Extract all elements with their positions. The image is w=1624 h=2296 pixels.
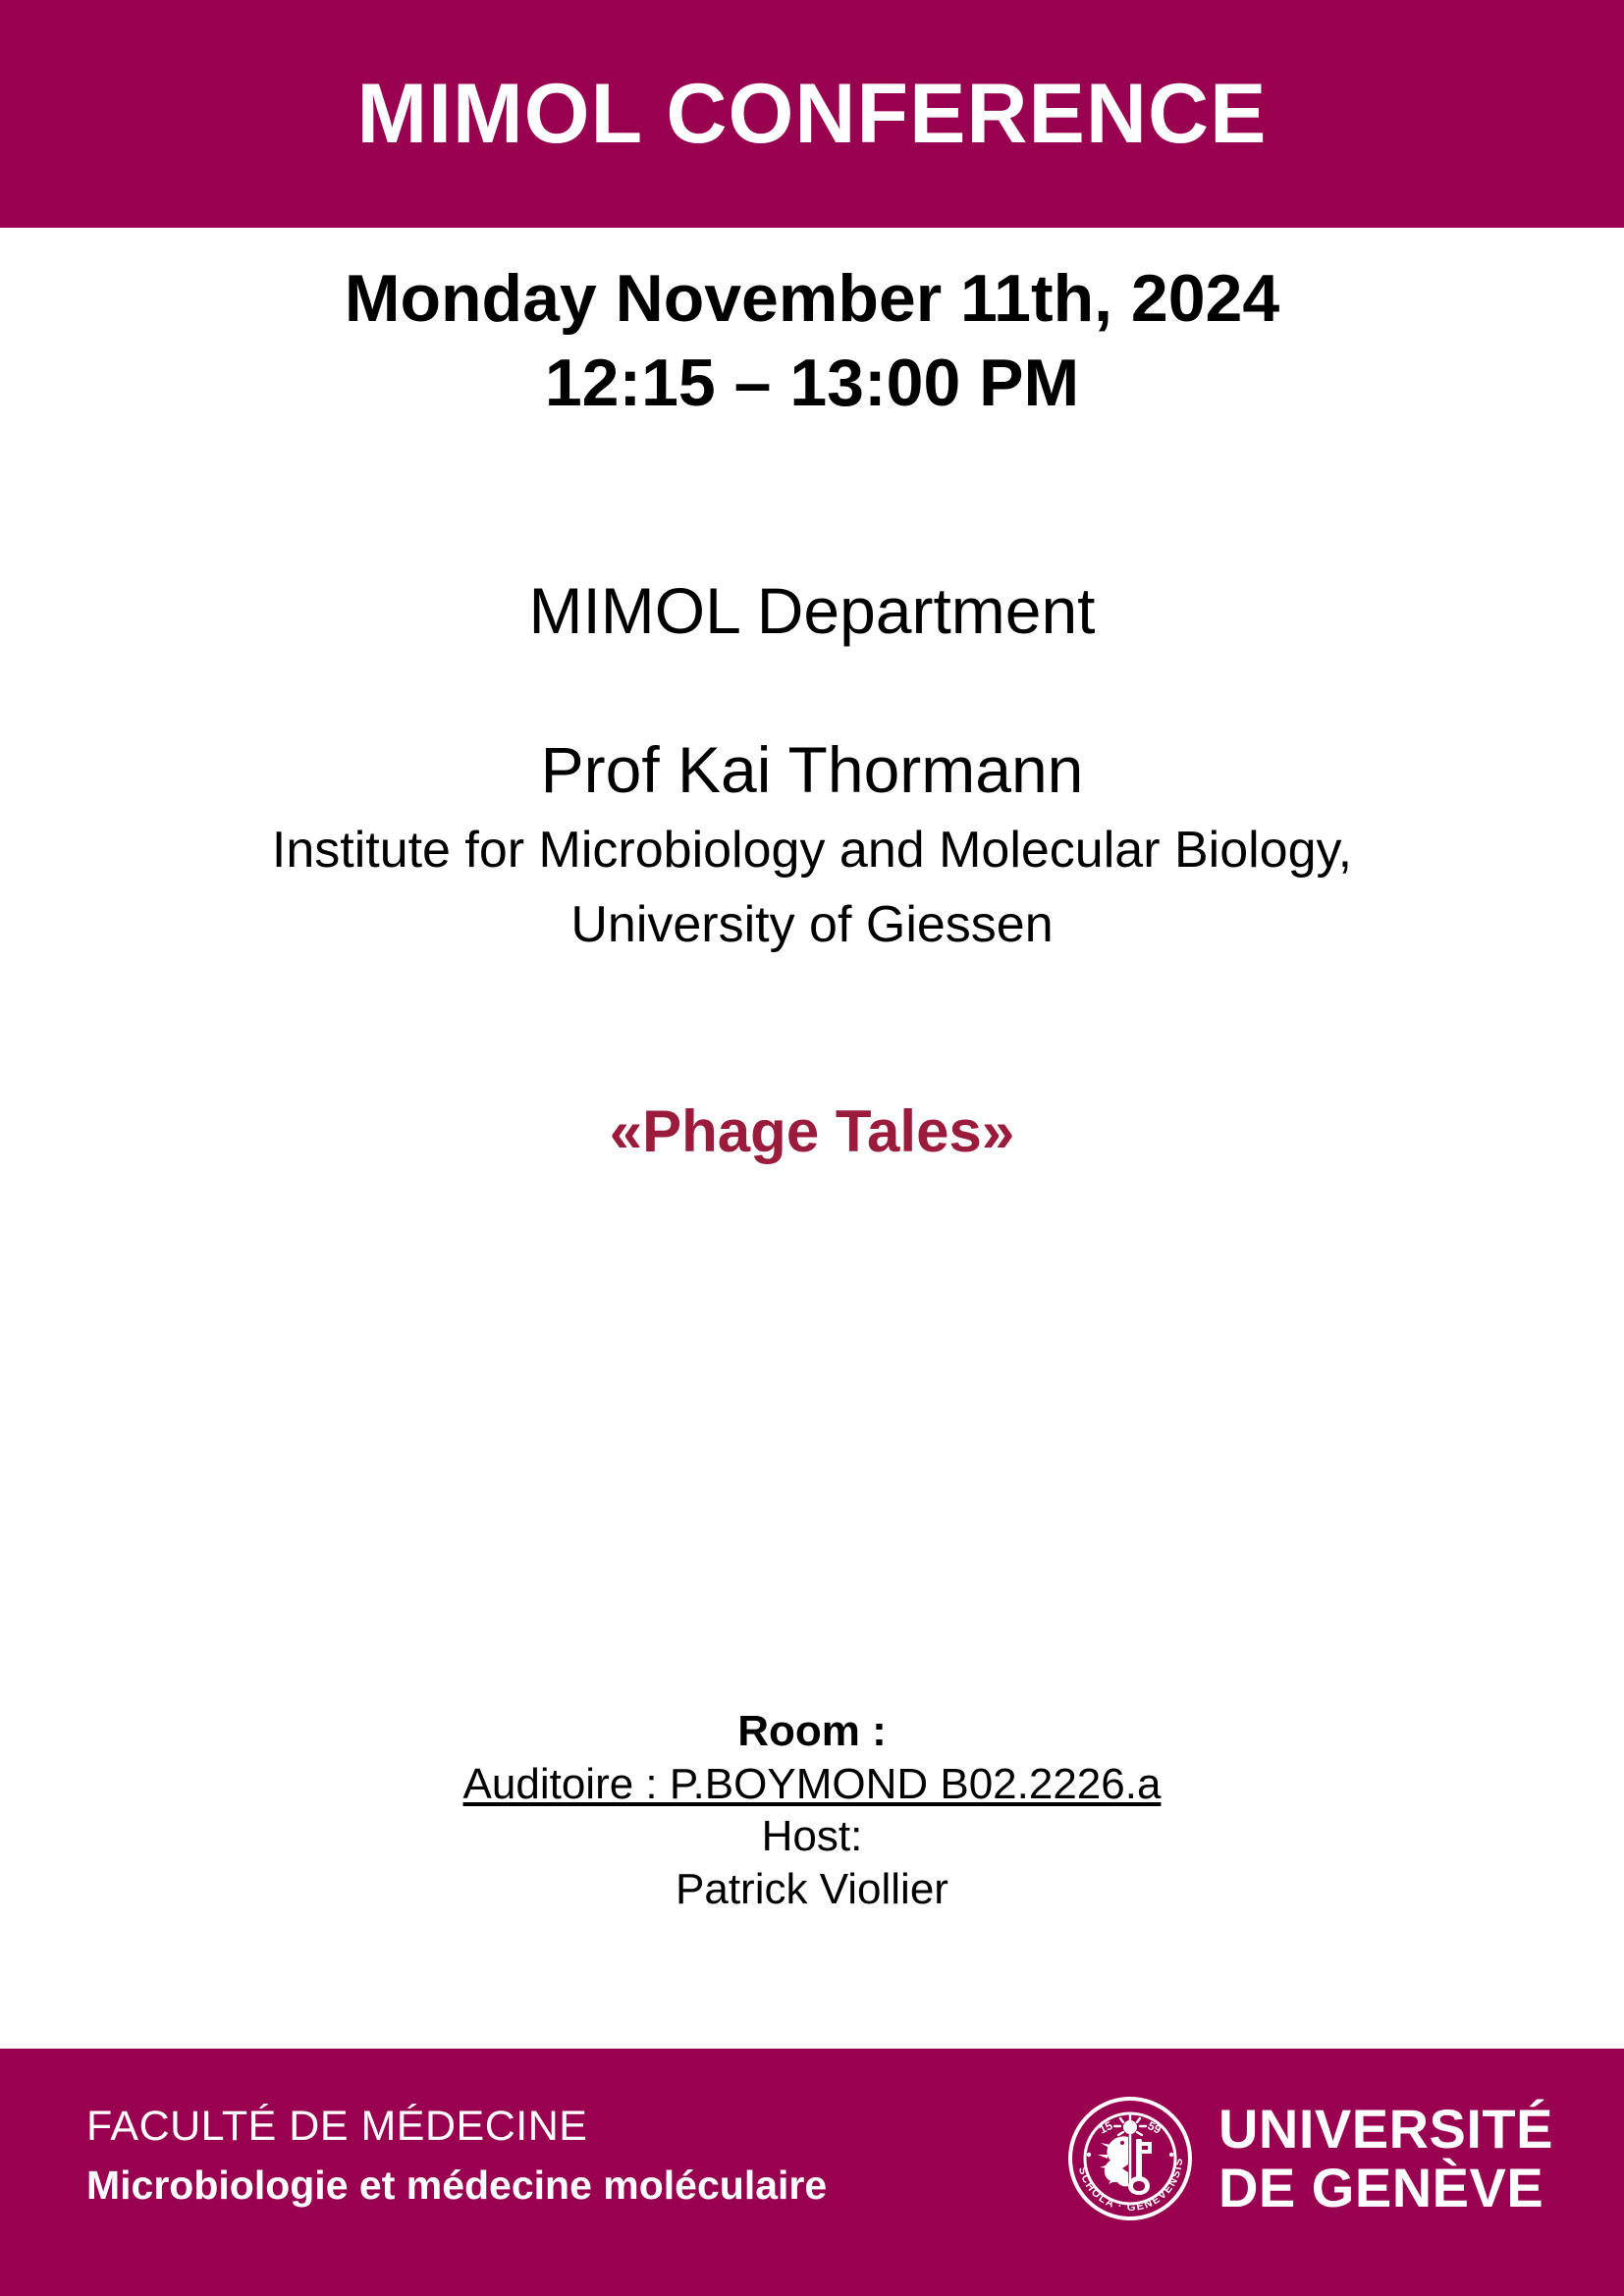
room-label: Room : <box>0 1705 1624 1758</box>
unige-logo: SCHOLA · GENEVENSIS 15 59 <box>1067 2096 1553 2221</box>
speaker-affiliation-line-1: Institute for Microbiology and Molecular… <box>0 817 1624 884</box>
talk-title: «Phage Tales» <box>0 1096 1624 1167</box>
unige-wordmark: UNIVERSITÉ DE GENÈVE <box>1218 2100 1553 2218</box>
conference-poster: MIMOL CONFERENCE Monday November 11th, 2… <box>0 0 1624 2296</box>
talk-block: «Phage Tales» <box>0 1096 1624 1167</box>
host-label: Host: <box>0 1810 1624 1863</box>
event-time: 12:15 – 13:00 PM <box>0 342 1624 426</box>
unige-wordmark-line-1: UNIVERSITÉ <box>1218 2100 1553 2159</box>
footer-faculty-block: FACULTÉ DE MÉDECINE Microbiologie et méd… <box>86 2100 827 2212</box>
page-title: MIMOL CONFERENCE <box>357 72 1268 156</box>
event-datetime-block: Monday November 11th, 2024 12:15 – 13:00… <box>0 257 1624 425</box>
unige-wordmark-line-2: DE GENÈVE <box>1218 2159 1553 2217</box>
svg-text:15: 15 <box>1097 2118 1114 2137</box>
department-block: MIMOL Department <box>0 572 1624 650</box>
speaker-name: Prof Kai Thormann <box>0 731 1624 809</box>
svg-text:59: 59 <box>1146 2118 1164 2137</box>
event-department: MIMOL Department <box>0 572 1624 650</box>
footer-faculty-name: FACULTÉ DE MÉDECINE <box>86 2100 827 2154</box>
footer-department-name: Microbiologie et médecine moléculaire <box>86 2160 827 2212</box>
footer-band: FACULTÉ DE MÉDECINE Microbiologie et méd… <box>0 2049 1624 2296</box>
poster-body: Monday November 11th, 2024 12:15 – 13:00… <box>0 228 1624 2049</box>
room-value: Auditoire : P.BOYMOND B02.2226.a <box>0 1758 1624 1811</box>
host-value: Patrick Viollier <box>0 1863 1624 1916</box>
venue-block: Room : Auditoire : P.BOYMOND B02.2226.a … <box>0 1705 1624 1916</box>
unige-seal-icon: SCHOLA · GENEVENSIS 15 59 <box>1067 2096 1193 2221</box>
speaker-affiliation-line-2: University of Giessen <box>0 891 1624 959</box>
header-band: MIMOL CONFERENCE <box>0 0 1624 228</box>
speaker-block: Prof Kai Thormann Institute for Microbio… <box>0 731 1624 959</box>
event-date: Monday November 11th, 2024 <box>0 257 1624 342</box>
